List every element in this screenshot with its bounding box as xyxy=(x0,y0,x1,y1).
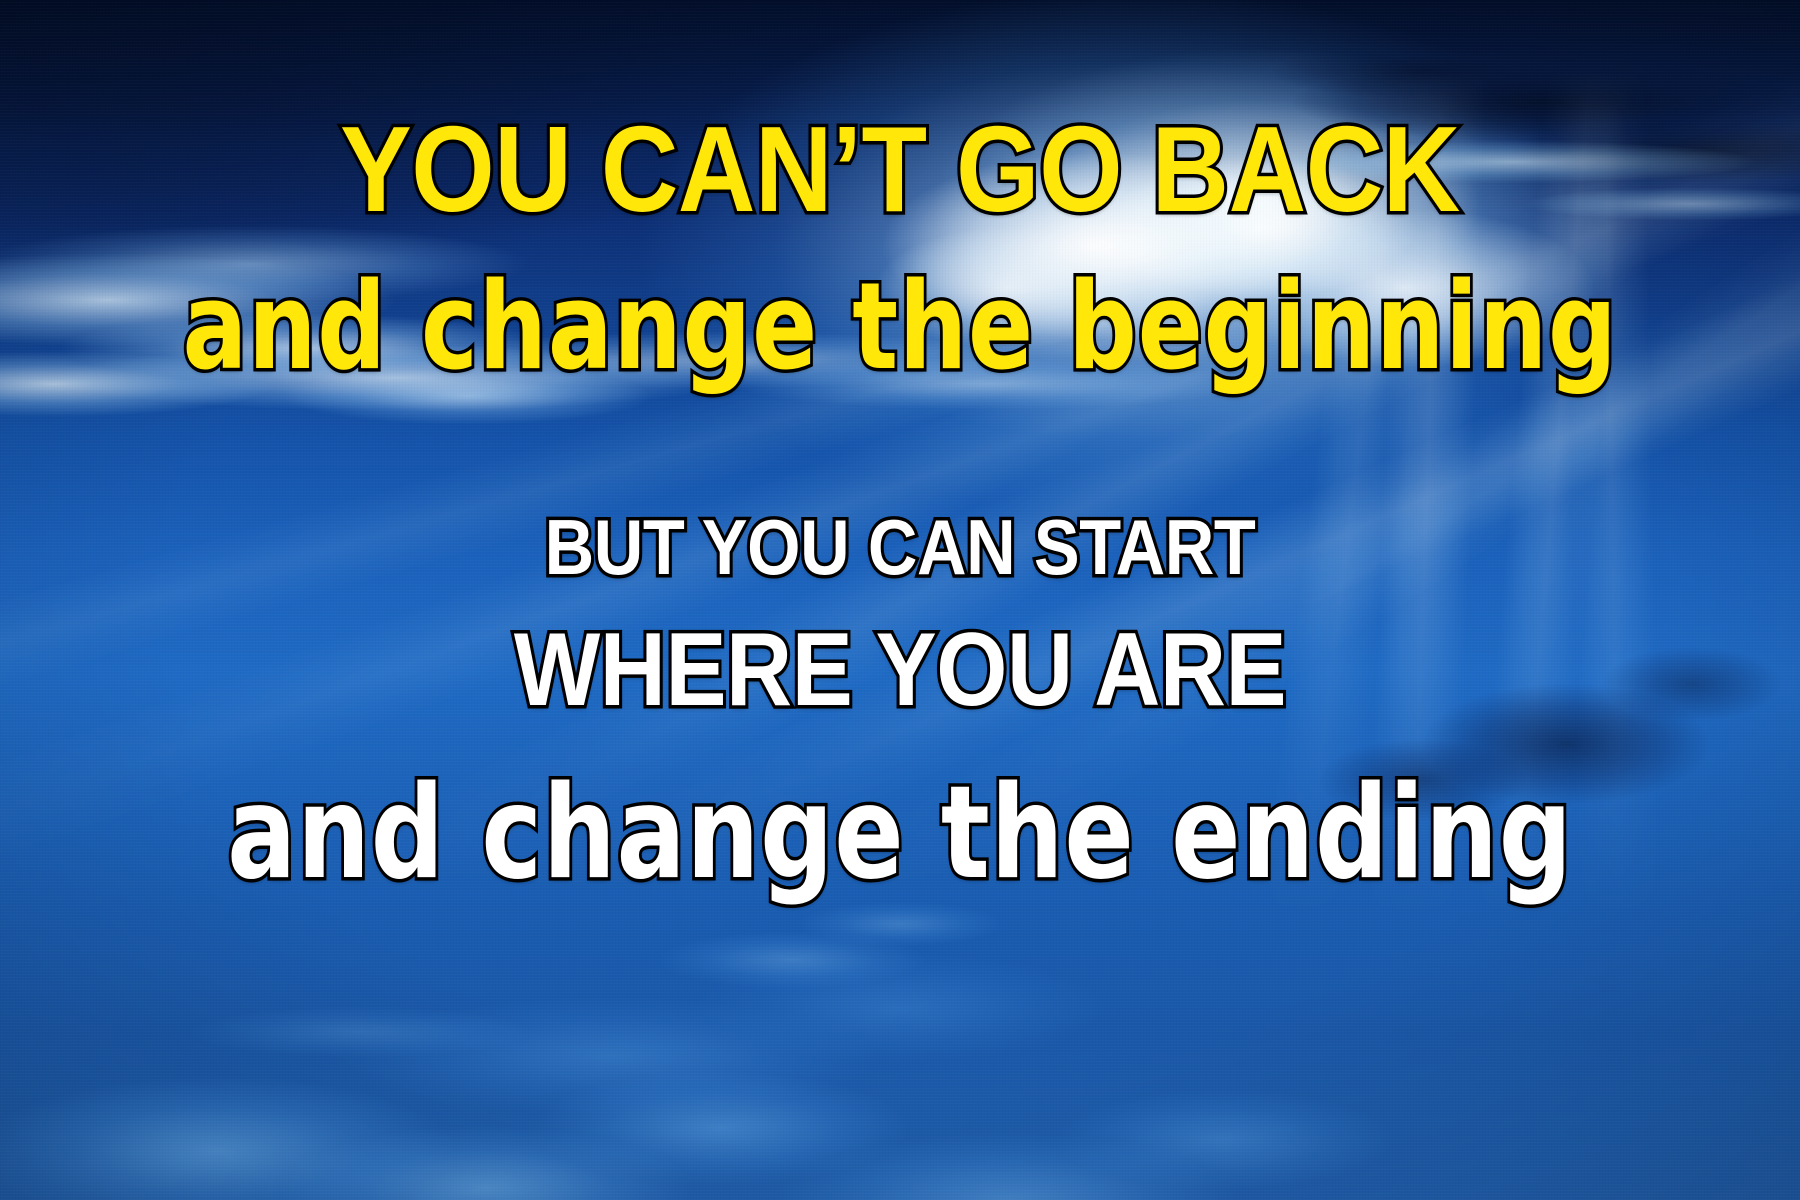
quote-line-4: WHERE YOU ARE xyxy=(108,618,1692,722)
quote-poster: YOU CAN’T GO BACK and change the beginni… xyxy=(0,0,1800,1200)
quote-line-3: BUT YOU CAN START xyxy=(108,508,1692,586)
quote-line-1: YOU CAN’T GO BACK xyxy=(108,108,1692,230)
quote-text-block: YOU CAN’T GO BACK and change the beginni… xyxy=(0,0,1800,1200)
quote-line-2: and change the beginning xyxy=(180,268,1620,388)
quote-line-5: and change the ending xyxy=(180,770,1620,898)
